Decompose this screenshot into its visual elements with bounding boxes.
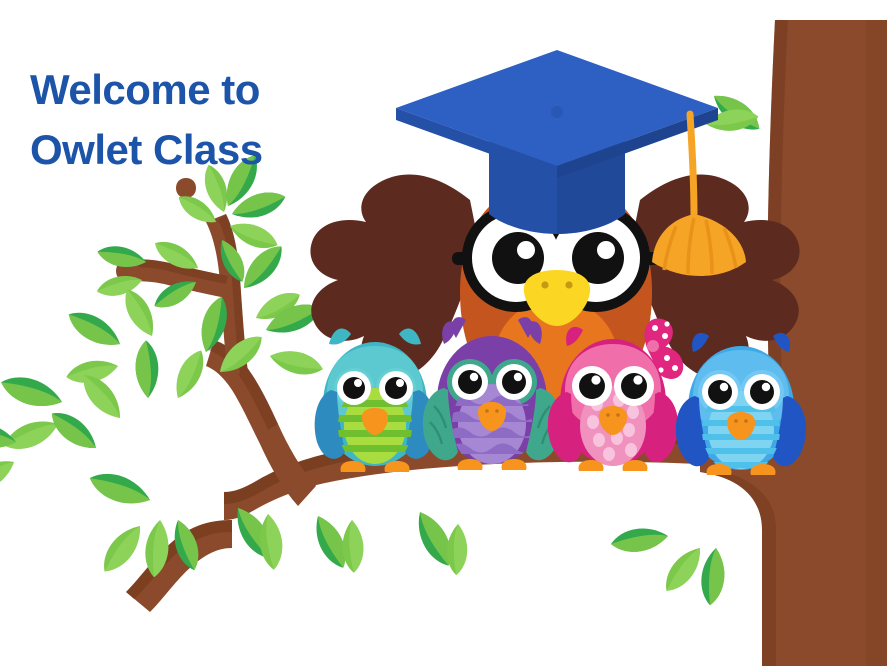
- owlet-purple: [423, 317, 561, 470]
- owl-scene-artwork: [0, 0, 887, 666]
- owlet-pink: [548, 318, 683, 471]
- illustration-canvas: Welcome to Owlet Class: [0, 0, 887, 666]
